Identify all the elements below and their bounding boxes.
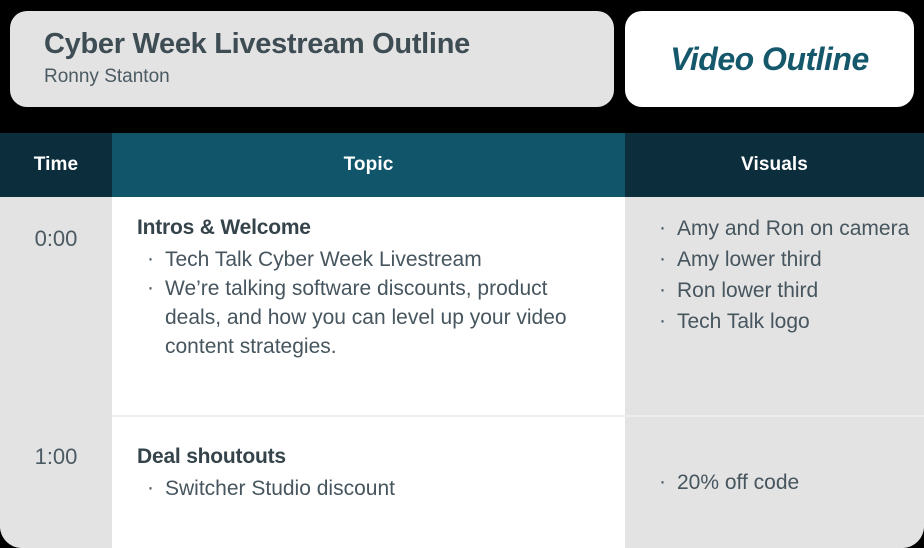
column-header-time-label: Time (34, 154, 78, 176)
document-header: Cyber Week Livestream Outline Ronny Stan… (0, 0, 924, 118)
list-item: Switcher Studio discount (137, 474, 607, 503)
table-row: 1:00 Deal shoutouts Switcher Studio disc… (0, 415, 924, 548)
time-value: 0:00 (35, 226, 78, 252)
page-title: Cyber Week Livestream Outline (44, 26, 614, 62)
visuals-bullet-list: 20% off code (655, 467, 910, 498)
table-header-row: Time Topic Visuals (0, 133, 924, 197)
topic-heading: Intros & Welcome (137, 213, 607, 243)
badge-label: Video Outline (670, 41, 869, 78)
list-item: Ron lower third (655, 275, 910, 306)
cell-visuals: Amy and Ron on camera Amy lower third Ro… (625, 197, 924, 415)
topic-bullet-list: Switcher Studio discount (137, 474, 607, 503)
column-header-time: Time (0, 133, 112, 197)
topic-heading: Deal shoutouts (137, 442, 607, 472)
list-item: Amy and Ron on camera (655, 213, 910, 244)
column-header-topic-label: Topic (344, 154, 394, 176)
table-body: 0:00 Intros & Welcome Tech Talk Cyber We… (0, 197, 924, 548)
list-item: We’re talking software discounts, produc… (137, 274, 607, 361)
document-page: Cyber Week Livestream Outline Ronny Stan… (0, 0, 924, 548)
visuals-bullet-list: Amy and Ron on camera Amy lower third Ro… (655, 213, 910, 337)
time-value: 1:00 (35, 444, 78, 470)
outline-table: Time Topic Visuals 0:00 Intros & Welcome… (0, 133, 924, 548)
topic-bullet-list: Tech Talk Cyber Week Livestream We’re ta… (137, 245, 607, 361)
column-header-visuals-label: Visuals (741, 154, 808, 176)
cell-topic: Deal shoutouts Switcher Studio discount (112, 415, 625, 548)
list-item: Tech Talk Cyber Week Livestream (137, 245, 607, 274)
list-item: 20% off code (655, 467, 910, 498)
cell-visuals: 20% off code (625, 415, 924, 548)
cell-time: 0:00 (0, 197, 112, 415)
table-row: 0:00 Intros & Welcome Tech Talk Cyber We… (0, 197, 924, 415)
document-author: Ronny Stanton (44, 63, 614, 91)
title-card: Cyber Week Livestream Outline Ronny Stan… (10, 11, 614, 107)
cell-topic: Intros & Welcome Tech Talk Cyber Week Li… (112, 197, 625, 415)
column-header-topic: Topic (112, 133, 625, 197)
list-item: Amy lower third (655, 244, 910, 275)
video-outline-badge: Video Outline (625, 11, 914, 107)
cell-time: 1:00 (0, 415, 112, 548)
column-header-visuals: Visuals (625, 133, 924, 197)
list-item: Tech Talk logo (655, 306, 910, 337)
